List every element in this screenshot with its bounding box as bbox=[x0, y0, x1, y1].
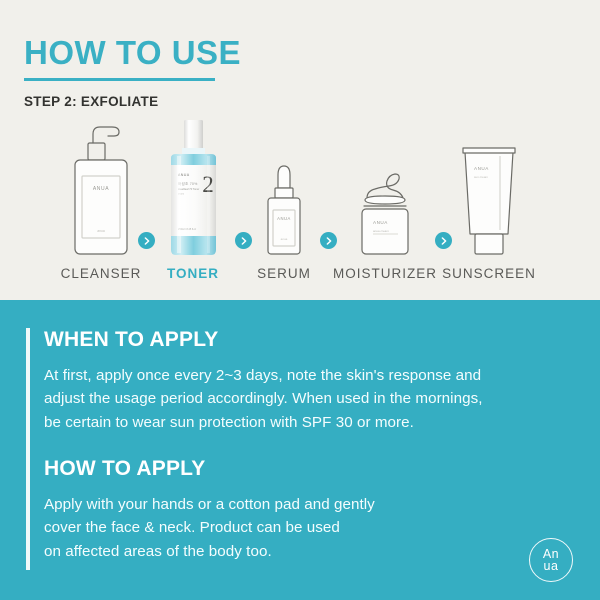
svg-text:ANUA: ANUA bbox=[93, 186, 109, 192]
svg-text:Heartleaf 70 Toner: Heartleaf 70 Toner bbox=[178, 187, 199, 191]
how-to-use-section: HOW TO USE STEP 2: EXFOLIATE ANUA anua bbox=[0, 0, 600, 300]
tube-illustration: ANUA sun cream bbox=[458, 118, 520, 258]
when-to-apply-body: At first, apply once every 2~3 days, not… bbox=[44, 364, 483, 434]
chevron-right-icon bbox=[240, 237, 248, 245]
svg-text:anua cream: anua cream bbox=[373, 229, 389, 233]
chevron-right-icon bbox=[325, 237, 333, 245]
arrow-moisturizer-to-sunscreen bbox=[435, 232, 452, 249]
chevron-right-icon bbox=[440, 237, 448, 245]
arrow-serum-to-moisturizer bbox=[320, 232, 337, 249]
anua-logo: An ua bbox=[529, 538, 573, 582]
product-cleanser: ANUA anua bbox=[60, 118, 142, 258]
arrow-cleanser-to-toner bbox=[138, 232, 155, 249]
page-title: HOW TO USE bbox=[24, 36, 241, 69]
svg-text:sun cream: sun cream bbox=[474, 175, 489, 179]
panel-accent-bar bbox=[26, 328, 30, 570]
product-name-serum: SERUM bbox=[257, 266, 311, 281]
product-toner: ANUA 어성초 70% Heartleaf 70 Toner 250ml 2 … bbox=[165, 118, 222, 258]
product-names-row: CLEANSER TONER SERUM MOISTURIZER SUNSCRE… bbox=[0, 266, 600, 286]
title-underline bbox=[24, 78, 215, 81]
how-to-apply-title: HOW TO APPLY bbox=[44, 457, 375, 481]
chevron-right-icon bbox=[143, 237, 151, 245]
product-name-toner: TONER bbox=[167, 266, 219, 281]
toner-bottle-illustration: ANUA 어성초 70% Heartleaf 70 Toner 250ml 2 … bbox=[165, 118, 222, 258]
logo-line-2: ua bbox=[544, 560, 559, 573]
product-moisturizer: ANUA anua cream bbox=[345, 118, 425, 258]
how-line-1: Apply with your hands or a cotton pad an… bbox=[44, 493, 375, 516]
apply-instructions-panel: WHEN TO APPLY At first, apply once every… bbox=[0, 300, 600, 600]
how-to-apply-block: HOW TO APPLY Apply with your hands or a … bbox=[44, 457, 375, 563]
arrow-toner-to-serum bbox=[235, 232, 252, 249]
cream-jar-illustration: ANUA anua cream bbox=[345, 118, 425, 258]
product-name-cleanser: CLEANSER bbox=[61, 266, 142, 281]
product-name-sunscreen: SUNSCREEN bbox=[442, 266, 536, 281]
how-to-apply-body: Apply with your hands or a cotton pad an… bbox=[44, 493, 375, 563]
when-line-3: be certain to wear sun protection with S… bbox=[44, 411, 483, 434]
infographic-page: HOW TO USE STEP 2: EXFOLIATE ANUA anua bbox=[0, 0, 600, 600]
product-sunscreen: ANUA sun cream bbox=[458, 118, 520, 258]
svg-text:어성초 70%: 어성초 70% bbox=[178, 181, 198, 186]
dropper-bottle-illustration: ANUA anua bbox=[258, 118, 310, 258]
how-line-2: cover the face & neck. Product can be us… bbox=[44, 516, 375, 539]
how-line-3: on affected areas of the body too. bbox=[44, 540, 375, 563]
when-to-apply-title: WHEN TO APPLY bbox=[44, 328, 483, 352]
routine-steps-row: ANUA anua bbox=[0, 118, 600, 258]
step-label: STEP 2: EXFOLIATE bbox=[24, 94, 158, 109]
svg-text:ANUA: ANUA bbox=[373, 220, 388, 225]
product-serum: ANUA anua bbox=[258, 118, 310, 258]
pump-bottle-illustration: ANUA anua bbox=[60, 118, 142, 258]
svg-text:anua: anua bbox=[281, 237, 288, 241]
svg-text:anua: anua bbox=[97, 229, 105, 233]
when-line-1: At first, apply once every 2~3 days, not… bbox=[44, 364, 483, 387]
when-line-2: adjust the usage period accordingly. Whe… bbox=[44, 387, 483, 410]
svg-text:ANUA: ANUA bbox=[277, 216, 291, 221]
when-to-apply-block: WHEN TO APPLY At first, apply once every… bbox=[44, 328, 483, 434]
svg-text:ANUA: ANUA bbox=[474, 166, 489, 171]
product-name-moisturizer: MOISTURIZER bbox=[333, 266, 437, 281]
